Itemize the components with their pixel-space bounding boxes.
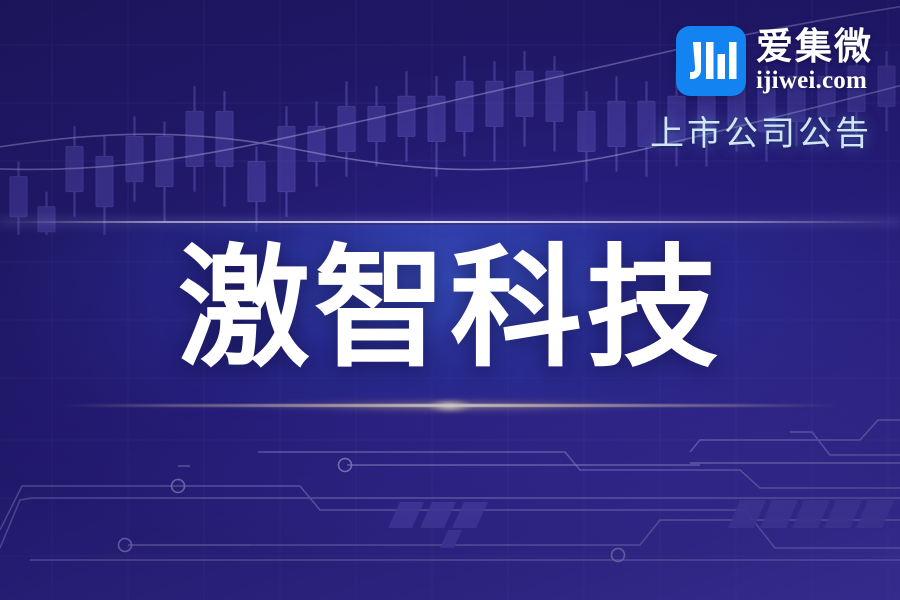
announcement-banner: 爱集微 ijiwei.com 上市公司公告 激智科技 (0, 0, 900, 600)
company-name-title: 激智科技 (0, 236, 900, 384)
brand-name-cn: 爱集微 (756, 28, 873, 65)
light-flare (0, 396, 900, 416)
flare-core (420, 397, 480, 415)
brand-website: ijiwei.com (756, 68, 873, 94)
brand-logo-block[interactable]: 爱集微 ijiwei.com (676, 26, 873, 96)
banner-subtitle: 上市公司公告 (650, 106, 872, 155)
chart-separator-line (0, 221, 900, 223)
brand-text-group: 爱集微 ijiwei.com (756, 26, 873, 94)
ijiwei-bar-chart-logo-icon[interactable] (676, 26, 746, 96)
